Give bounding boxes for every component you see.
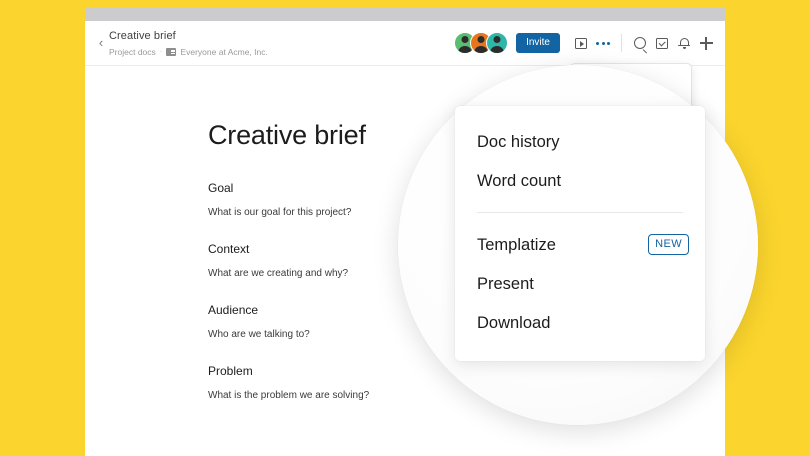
team-icon [166, 48, 176, 56]
breadcrumb-parent[interactable]: Project docs [109, 46, 156, 58]
avatar-body [490, 46, 504, 54]
avatar[interactable] [486, 32, 508, 54]
invite-button[interactable]: Invite [516, 33, 560, 53]
avatar-head [462, 36, 469, 43]
magnified-more-options-menu: Doc history Word count Templatize NEW Pr… [455, 106, 705, 361]
menu-item-present[interactable]: Present [455, 264, 705, 303]
breadcrumb: Project docs · Everyone at Acme, Inc. [109, 46, 268, 58]
header-actions: Invite [454, 29, 717, 57]
browser-chrome-bar [85, 8, 725, 21]
present-icon-glyph [575, 38, 587, 49]
present-icon[interactable] [570, 32, 592, 54]
screenshot-stage: ‹ Creative brief Project docs · Everyone… [0, 0, 810, 456]
menu-item-word-count-label: Word count [477, 171, 561, 191]
menu-item-doc-history-label: Doc history [477, 132, 560, 152]
tasks-icon-glyph [656, 38, 668, 49]
breadcrumb-separator: · [160, 46, 163, 58]
menu-item-doc-history[interactable]: Doc history [455, 122, 705, 161]
search-icon-glyph [634, 37, 646, 49]
plus-icon-glyph [700, 37, 713, 50]
bell-icon-glyph [678, 37, 690, 50]
menu-item-templatize[interactable]: Templatize NEW [455, 225, 705, 264]
menu-item-templatize-label: Templatize [477, 235, 556, 255]
menu-item-download[interactable]: Download [455, 303, 705, 342]
search-icon[interactable] [629, 32, 651, 54]
menu-item-word-count[interactable]: Word count [455, 161, 705, 200]
breadcrumb-workspace[interactable]: Everyone at Acme, Inc. [180, 46, 267, 58]
tasks-icon[interactable] [651, 32, 673, 54]
more-options-glyph [596, 42, 609, 45]
avatar-group [454, 32, 508, 54]
more-options-icon[interactable] [592, 32, 614, 54]
avatar-head [494, 36, 501, 43]
menu-item-present-label: Present [477, 274, 534, 294]
new-badge: NEW [648, 234, 689, 255]
avatar-head [478, 36, 485, 43]
menu-item-download-label: Download [477, 313, 550, 333]
document-header: ‹ Creative brief Project docs · Everyone… [85, 21, 725, 66]
notifications-icon[interactable] [673, 32, 695, 54]
chevron-left-icon[interactable]: ‹ [94, 36, 108, 50]
toolbar-divider [621, 34, 622, 52]
new-item-icon[interactable] [695, 32, 717, 54]
page-title: Creative brief [109, 29, 268, 43]
menu-divider [477, 212, 683, 213]
document-title-block: Creative brief Project docs · Everyone a… [109, 29, 268, 58]
